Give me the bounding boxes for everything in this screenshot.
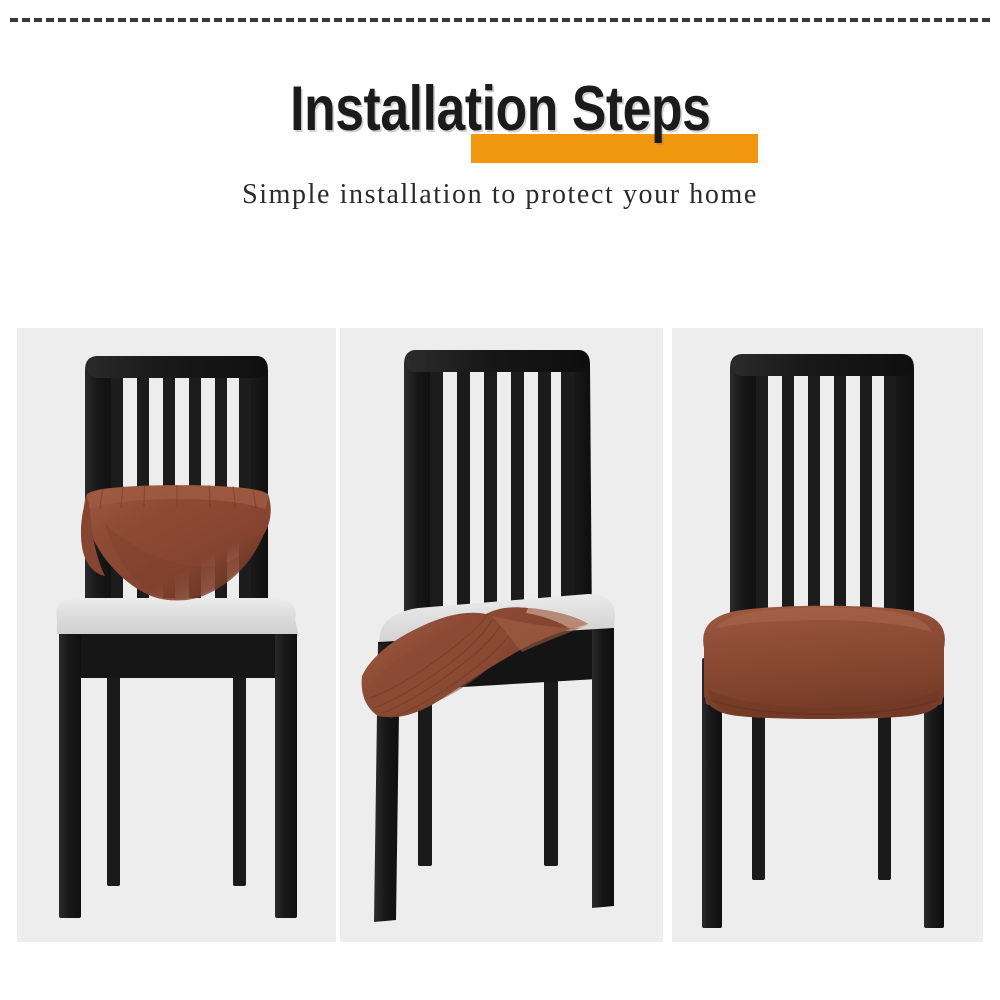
chair-illustration-step-3 bbox=[678, 328, 978, 942]
page-title: Installation Steps bbox=[290, 78, 710, 141]
page-title-wrap: Installation Steps bbox=[240, 78, 761, 141]
step-panel-2 bbox=[340, 328, 663, 942]
chair-backrest-2 bbox=[404, 350, 592, 638]
backrest-slats-3 bbox=[756, 376, 896, 620]
infographic-page: Installation Steps Simple installation t… bbox=[0, 0, 1000, 1000]
seat-cushion-1 bbox=[56, 598, 299, 636]
backrest-slats-2 bbox=[430, 372, 574, 610]
chair-rear-legs-1 bbox=[107, 658, 246, 886]
chair-illustration-step-1 bbox=[27, 328, 327, 942]
step-panel-1 bbox=[17, 328, 336, 942]
installation-steps-strip bbox=[17, 328, 983, 942]
step-panel-3 bbox=[672, 328, 983, 942]
chair-apron-1 bbox=[59, 634, 297, 678]
chair-backrest-3 bbox=[730, 354, 914, 646]
seat-cover-installed-3 bbox=[703, 606, 945, 719]
chair-illustration-step-2 bbox=[352, 328, 652, 942]
page-subtitle: Simple installation to protect your home bbox=[0, 179, 1000, 211]
header: Installation Steps Simple installation t… bbox=[0, 78, 1000, 211]
top-dashed-divider bbox=[10, 18, 990, 22]
